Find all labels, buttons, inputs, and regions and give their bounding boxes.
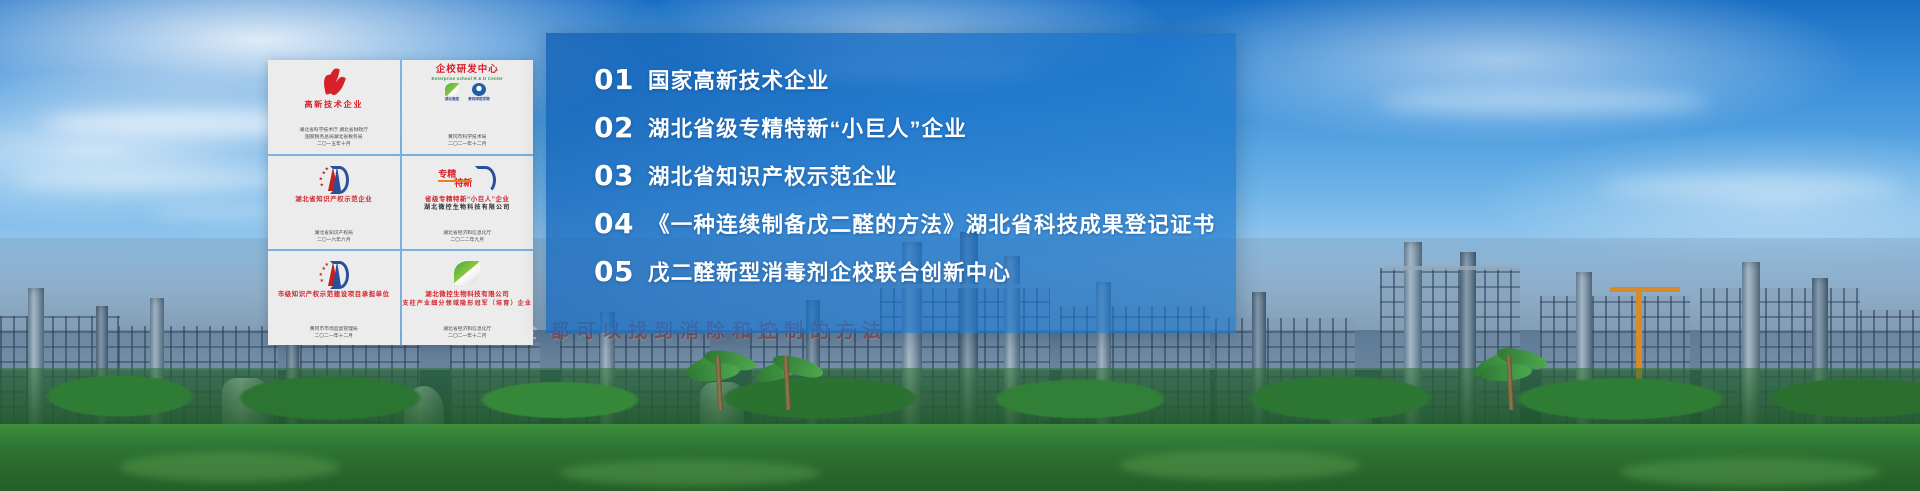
- star-sail-icon: [319, 161, 349, 195]
- issuer-line: 湖北省科学技术厅 湖北省财政厅: [300, 127, 369, 134]
- highlights-list: 01 国家高新技术企业 02 湖北省级专精特新“小巨人”企业 03 湖北省知识产…: [594, 55, 1226, 295]
- certificate-subtitle: 支柱产业细分领域隐形冠军（培育）企业: [402, 301, 532, 308]
- plant-pipe: [1386, 266, 1516, 270]
- zhuanjing-texin-icon: 专精特新: [438, 161, 496, 195]
- certificate-issuer: 湖北省知识产权局 二〇一六年六月: [315, 230, 353, 246]
- issue-date: 二〇二二年九月: [443, 237, 491, 244]
- rd-center-en-label: Enterprise school R & D Center: [432, 76, 503, 81]
- certificate-title: 高新技术企业: [304, 100, 363, 109]
- certificate-card[interactable]: 湖北微控生物科技有限公司 支柱产业细分领域隐形冠军（培育）企业 湖北省经济和信息…: [402, 251, 534, 345]
- lawn-patch: [1620, 458, 1880, 486]
- highlight-text: 湖北省级专精特新“小巨人”企业: [648, 112, 967, 143]
- highlight-text: 湖北省知识产权示范企业: [648, 160, 898, 191]
- certificate-title: 市级知识产权示范建设项目承担单位: [278, 291, 390, 298]
- partner-mark-weikong: 湖北微控: [445, 83, 459, 102]
- highlight-number: 02: [594, 111, 648, 144]
- certificate-issuer: 黄冈市科学技术局 二〇二一年十二月: [448, 134, 486, 150]
- rd-center-cn-label: 企校研发中心: [436, 65, 499, 75]
- highlight-item[interactable]: 02 湖北省级专精特新“小巨人”企业: [594, 103, 1226, 151]
- banner-stage: 全都可以找到消除和控制的方法 高新技术企业 湖北省科学技术厅 湖北省财政厅 国家…: [0, 0, 1920, 491]
- highlight-text: 《一种连续制备戊二醛的方法》湖北省科技成果登记证书: [648, 208, 1216, 239]
- issuer-line: 黄冈市科学技术局: [448, 134, 486, 141]
- cloud-wisp: [1600, 175, 1900, 197]
- certificate-card[interactable]: 湖北省知识产权示范企业 湖北省知识产权局 二〇一六年六月: [268, 156, 400, 250]
- certificate-issuer: 黄冈市市场监督管理局 二〇二一年十二月: [310, 326, 358, 342]
- issuer-line: 国家税务总局湖北省税务局: [300, 134, 369, 141]
- enterprise-school-rd-icon: 企校研发中心 Enterprise school R & D Center 湖北…: [432, 65, 503, 102]
- palm-tree: [760, 358, 816, 410]
- issue-date: 二〇一六年六月: [315, 237, 353, 244]
- issuer-line: 湖北省知识产权局: [315, 230, 353, 237]
- highlight-number: 03: [594, 159, 648, 192]
- highlight-number: 01: [594, 63, 648, 96]
- issue-date: 二〇二一年十二月: [310, 333, 358, 340]
- issue-date: 二〇二一年十二月: [443, 333, 491, 340]
- certificate-grid: 高新技术企业 湖北省科学技术厅 湖北省财政厅 国家税务总局湖北省税务局 二〇一五…: [268, 60, 533, 345]
- certificate-issuer: 湖北省科学技术厅 湖北省财政厅 国家税务总局湖北省税务局 二〇一五年十月: [300, 127, 369, 151]
- certificate-title: 省级专精特新“小巨人”企业: [425, 196, 510, 203]
- highlight-number: 04: [594, 207, 648, 240]
- plant-crane-arm: [1610, 287, 1680, 292]
- certificate-subtitle: 湖北微控生物科技有限公司: [424, 205, 510, 212]
- cloud-wisp: [1380, 90, 1710, 114]
- issue-date: 二〇二一年十二月: [448, 141, 486, 148]
- palm-tree: [690, 352, 750, 410]
- highlight-item[interactable]: 05 戊二醛新型消毒剂企校联合创新中心: [594, 247, 1226, 295]
- highlight-item[interactable]: 01 国家高新技术企业: [594, 55, 1226, 103]
- certificate-issuer: 湖北省经济和信息化厅 二〇二二年九月: [443, 230, 491, 246]
- issuer-line: 湖北省经济和信息化厅: [443, 230, 491, 237]
- highlight-number: 05: [594, 255, 648, 288]
- issuer-line: 湖北省经济和信息化厅: [443, 326, 491, 333]
- certificate-card[interactable]: 高新技术企业 湖北省科学技术厅 湖北省财政厅 国家税务总局湖北省税务局 二〇一五…: [268, 60, 400, 154]
- green-leaf-icon: [454, 256, 480, 290]
- certificate-card[interactable]: 市级知识产权示范建设项目承担单位 黄冈市市场监督管理局 二〇二一年十二月: [268, 251, 400, 345]
- lawn-patch: [1120, 450, 1360, 480]
- certificate-issuer: 湖北省经济和信息化厅 二〇二一年十二月: [443, 326, 491, 342]
- certificate-card[interactable]: 企校研发中心 Enterprise school R & D Center 湖北…: [402, 60, 534, 154]
- highlight-text: 国家高新技术企业: [648, 64, 830, 95]
- highlight-text: 戊二醛新型消毒剂企校联合创新中心: [648, 256, 1011, 287]
- highlight-item[interactable]: 03 湖北省知识产权示范企业: [594, 151, 1226, 199]
- highlight-item[interactable]: 04 《一种连续制备戊二醛的方法》湖北省科技成果登记证书: [594, 199, 1226, 247]
- certificate-title: 湖北微控生物科技有限公司: [425, 291, 509, 298]
- cloud-wisp: [10, 170, 310, 190]
- flame-icon: [322, 65, 346, 99]
- lawn-patch: [560, 460, 820, 486]
- certificate-title: 湖北省知识产权示范企业: [295, 196, 372, 203]
- palm-tree: [1480, 350, 1542, 410]
- partner-mark-university: 黄冈师范学院: [468, 83, 490, 102]
- issuer-line: 黄冈市市场监督管理局: [310, 326, 358, 333]
- highlights-panel: 01 国家高新技术企业 02 湖北省级专精特新“小巨人”企业 03 湖北省知识产…: [546, 33, 1236, 333]
- star-sail-icon: [319, 256, 349, 290]
- lawn-patch: [120, 452, 340, 482]
- certificate-card[interactable]: 专精特新 省级专精特新“小巨人”企业 湖北微控生物科技有限公司 湖北省经济和信息…: [402, 156, 534, 250]
- issue-date: 二〇一五年十月: [300, 141, 369, 148]
